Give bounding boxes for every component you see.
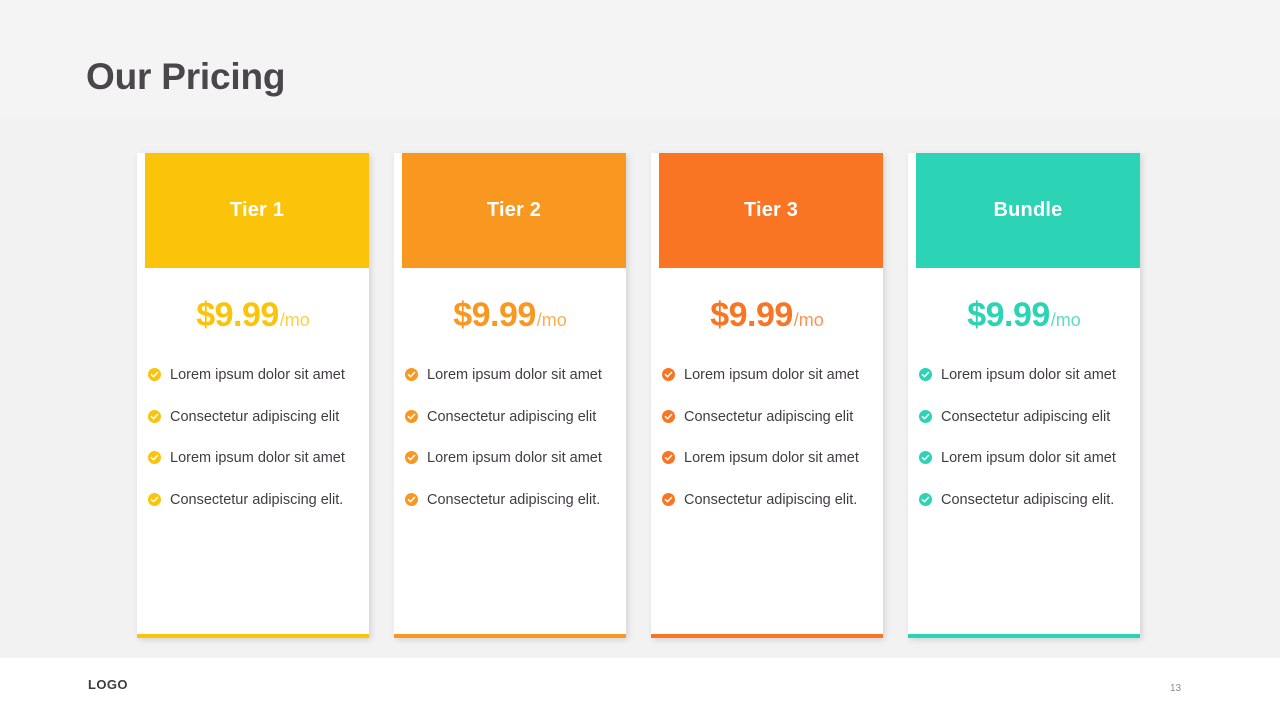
feature-item: Lorem ipsum dolor sit amet [941,447,1122,470]
pricing-card-title: Tier 1 [230,199,284,222]
feature-item: Consectetur adipiscing elit [427,406,608,429]
pricing-card[interactable]: Tier 2$9.99/moLorem ipsum dolor sit amet… [394,153,626,638]
pricing-card-title: Tier 3 [744,199,798,222]
feature-label: Consectetur adipiscing elit [684,409,853,425]
slide-canvas: Our Pricing Tier 1$9.99/moLorem ipsum do… [0,0,1280,720]
feature-item: Lorem ipsum dolor sit amet [684,447,865,470]
price-period: /mo [794,310,824,330]
feature-label: Lorem ipsum dolor sit amet [170,367,345,383]
feature-list: Lorem ipsum dolor sit ametConsectetur ad… [908,364,1140,634]
pricing-card-title: Bundle [994,199,1063,222]
check-circle-icon [662,410,675,423]
footer-page-number: 13 [1170,683,1181,694]
feature-label: Consectetur adipiscing elit. [684,492,857,508]
pricing-card[interactable]: Bundle$9.99/moLorem ipsum dolor sit amet… [908,153,1140,638]
feature-label: Lorem ipsum dolor sit amet [170,450,345,466]
pricing-card-header: Tier 1 [145,153,369,268]
pricing-card-price: $9.99/mo [137,298,369,332]
check-circle-icon [919,368,932,381]
pricing-card-header: Tier 3 [659,153,883,268]
feature-item: Consectetur adipiscing elit [684,406,865,429]
price-amount: $9.99 [196,296,279,334]
check-circle-icon [919,493,932,506]
price-amount: $9.99 [967,296,1050,334]
feature-list: Lorem ipsum dolor sit ametConsectetur ad… [137,364,369,634]
check-circle-icon [405,368,418,381]
feature-label: Lorem ipsum dolor sit amet [941,367,1116,383]
pricing-card-accent-bar [908,634,1140,638]
feature-label: Consectetur adipiscing elit. [170,492,343,508]
price-period: /mo [1051,310,1081,330]
price-amount: $9.99 [710,296,793,334]
feature-list: Lorem ipsum dolor sit ametConsectetur ad… [394,364,626,634]
pricing-card-price: $9.99/mo [908,298,1140,332]
feature-list: Lorem ipsum dolor sit ametConsectetur ad… [651,364,883,634]
feature-label: Consectetur adipiscing elit [170,409,339,425]
feature-label: Lorem ipsum dolor sit amet [684,450,859,466]
price-amount: $9.99 [453,296,536,334]
feature-label: Consectetur adipiscing elit [941,409,1110,425]
feature-label: Consectetur adipiscing elit. [427,492,600,508]
pricing-card-accent-bar [137,634,369,638]
feature-label: Consectetur adipiscing elit. [941,492,1114,508]
footer-background-band [0,658,1280,720]
pricing-card[interactable]: Tier 1$9.99/moLorem ipsum dolor sit amet… [137,153,369,638]
check-circle-icon [148,493,161,506]
feature-item: Lorem ipsum dolor sit amet [427,364,608,387]
pricing-card-header: Tier 2 [402,153,626,268]
page-title: Our Pricing [86,56,285,98]
pricing-card-header: Bundle [916,153,1140,268]
feature-label: Lorem ipsum dolor sit amet [427,450,602,466]
feature-item: Lorem ipsum dolor sit amet [941,364,1122,387]
feature-item: Lorem ipsum dolor sit amet [170,364,351,387]
check-circle-icon [919,451,932,464]
check-circle-icon [148,451,161,464]
price-period: /mo [537,310,567,330]
footer-logo: LOGO [88,677,128,692]
feature-item: Consectetur adipiscing elit. [684,489,865,512]
pricing-card-title: Tier 2 [487,199,541,222]
feature-label: Lorem ipsum dolor sit amet [427,367,602,383]
pricing-card-price: $9.99/mo [651,298,883,332]
feature-item: Consectetur adipiscing elit [941,406,1122,429]
feature-item: Consectetur adipiscing elit. [170,489,351,512]
feature-label: Lorem ipsum dolor sit amet [941,450,1116,466]
pricing-cards-row: Tier 1$9.99/moLorem ipsum dolor sit amet… [137,153,1162,638]
check-circle-icon [148,368,161,381]
feature-item: Consectetur adipiscing elit [170,406,351,429]
check-circle-icon [405,451,418,464]
pricing-card-accent-bar [394,634,626,638]
feature-label: Consectetur adipiscing elit [427,409,596,425]
check-circle-icon [405,410,418,423]
feature-item: Lorem ipsum dolor sit amet [427,447,608,470]
check-circle-icon [919,410,932,423]
feature-item: Lorem ipsum dolor sit amet [684,364,865,387]
check-circle-icon [662,368,675,381]
check-circle-icon [662,451,675,464]
check-circle-icon [662,493,675,506]
pricing-card[interactable]: Tier 3$9.99/moLorem ipsum dolor sit amet… [651,153,883,638]
feature-item: Lorem ipsum dolor sit amet [170,447,351,470]
price-period: /mo [280,310,310,330]
feature-item: Consectetur adipiscing elit. [427,489,608,512]
feature-label: Lorem ipsum dolor sit amet [684,367,859,383]
feature-item: Consectetur adipiscing elit. [941,489,1122,512]
pricing-card-accent-bar [651,634,883,638]
check-circle-icon [405,493,418,506]
pricing-card-price: $9.99/mo [394,298,626,332]
check-circle-icon [148,410,161,423]
